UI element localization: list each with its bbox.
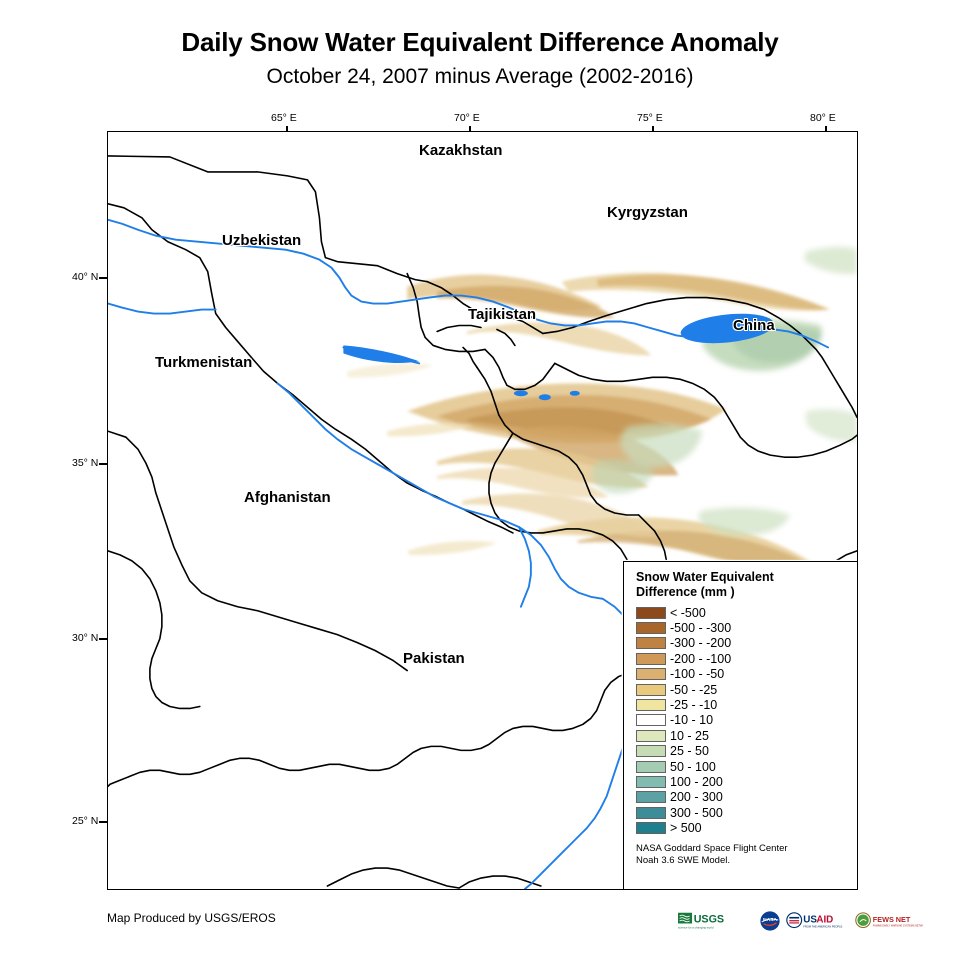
- legend-label: 50 - 100: [670, 760, 716, 774]
- legend-swatch: [636, 714, 666, 726]
- axis-label-lon-65: 65° E: [271, 112, 297, 124]
- axis-label-lon-70: 70° E: [454, 112, 480, 124]
- legend-swatch: [636, 699, 666, 711]
- legend-label: -300 - -200: [670, 636, 731, 650]
- svg-text:FAMINE EARLY WARNING SYSTEMS N: FAMINE EARLY WARNING SYSTEMS NETWORK: [873, 925, 923, 928]
- page-title: Daily Snow Water Equivalent Difference A…: [0, 26, 960, 58]
- legend-entry: -10 - 10: [636, 713, 847, 728]
- country-label-china: China: [733, 317, 775, 334]
- legend-swatch: [636, 791, 666, 803]
- legend-label: -500 - -300: [670, 621, 731, 635]
- axis-label-lat-25: 25° N: [72, 815, 98, 827]
- svg-text:AID: AID: [816, 915, 833, 926]
- country-label-tajikistan: Tajikistan: [468, 306, 536, 323]
- title-block: Daily Snow Water Equivalent Difference A…: [0, 26, 960, 92]
- legend-label: -25 - -10: [670, 698, 717, 712]
- legend-swatch: [636, 637, 666, 649]
- axis-label-lon-75: 75° E: [637, 112, 663, 124]
- map-credit: Map Produced by USGS/EROS: [107, 911, 276, 925]
- legend-swatch: [636, 668, 666, 680]
- legend-entry: 200 - 300: [636, 790, 847, 805]
- legend-entry-list: < -500-500 - -300-300 - -200-200 - -100-…: [636, 605, 847, 836]
- country-label-afghanistan: Afghanistan: [244, 489, 331, 506]
- legend-swatch: [636, 730, 666, 742]
- legend-entry: -25 - -10: [636, 697, 847, 712]
- svg-text:science for a changing world: science for a changing world: [678, 925, 714, 929]
- lake-small-3: [570, 391, 580, 396]
- svg-text:FEWS NET: FEWS NET: [873, 915, 911, 924]
- country-label-turkmenistan: Turkmenistan: [155, 354, 252, 371]
- legend-entry: -200 - -100: [636, 651, 847, 666]
- legend-swatch: [636, 653, 666, 665]
- lake-small-2: [539, 394, 551, 400]
- legend-entry: 10 - 25: [636, 728, 847, 743]
- country-label-kyrgyzstan: Kyrgyzstan: [607, 204, 688, 221]
- legend-entry: 25 - 50: [636, 744, 847, 759]
- svg-text:FROM THE AMERICAN PEOPLE: FROM THE AMERICAN PEOPLE: [803, 925, 842, 929]
- legend-swatch: [636, 776, 666, 788]
- legend-swatch: [636, 807, 666, 819]
- axis-label-lat-30: 30° N: [72, 632, 98, 644]
- legend-label: 300 - 500: [670, 806, 723, 820]
- legend-label: 200 - 300: [670, 790, 723, 804]
- country-label-pakistan: Pakistan: [403, 650, 465, 667]
- usgs-logo[interactable]: USGS science for a changing world: [678, 910, 754, 932]
- axis-label-lat-40: 40° N: [72, 271, 98, 283]
- nasa-logo[interactable]: NASA: [759, 910, 781, 932]
- page-subtitle: October 24, 2007 minus Average (2002-201…: [0, 62, 960, 92]
- legend-entry: 300 - 500: [636, 805, 847, 820]
- legend-entry: < -500: [636, 605, 847, 620]
- country-label-kazakhstan: Kazakhstan: [419, 142, 502, 159]
- svg-text:USGS: USGS: [694, 914, 724, 926]
- axis-label-lon-80: 80° E: [810, 112, 836, 124]
- legend-label: -10 - 10: [670, 713, 713, 727]
- legend-swatch: [636, 761, 666, 773]
- legend-label: -200 - -100: [670, 652, 731, 666]
- legend-entry: -500 - -300: [636, 620, 847, 635]
- legend-swatch: [636, 607, 666, 619]
- legend-entry: 100 - 200: [636, 774, 847, 789]
- lake-small-1: [514, 390, 528, 396]
- legend-swatch: [636, 684, 666, 696]
- svg-text:NASA: NASA: [763, 917, 777, 923]
- legend-swatch: [636, 622, 666, 634]
- legend-source-note: NASA Goddard Space Flight Center Noah 3.…: [636, 843, 847, 867]
- legend-entry: -300 - -200: [636, 636, 847, 651]
- logo-strip: USGS science for a changing world NASA U…: [678, 908, 923, 934]
- legend-entry: > 500: [636, 820, 847, 835]
- legend-entry: -50 - -25: [636, 682, 847, 697]
- legend-swatch: [636, 822, 666, 834]
- legend-label: 100 - 200: [670, 775, 723, 789]
- legend-swatch: [636, 745, 666, 757]
- legend-title: Snow Water Equivalent Difference (mm ): [636, 570, 847, 600]
- legend-label: 25 - 50: [670, 744, 709, 758]
- legend-entry: 50 - 100: [636, 759, 847, 774]
- map-legend: Snow Water Equivalent Difference (mm ) <…: [623, 561, 858, 890]
- legend-label: < -500: [670, 606, 706, 620]
- legend-entry: -100 - -50: [636, 667, 847, 682]
- fews-net-logo[interactable]: FEWS NET FAMINE EARLY WARNING SYSTEMS NE…: [855, 910, 923, 932]
- legend-label: -100 - -50: [670, 667, 724, 681]
- legend-label: -50 - -25: [670, 683, 717, 697]
- legend-label: 10 - 25: [670, 729, 709, 743]
- axis-label-lat-35: 35° N: [72, 457, 98, 469]
- usaid-logo[interactable]: US AID FROM THE AMERICAN PEOPLE: [786, 910, 850, 932]
- country-label-uzbekistan: Uzbekistan: [222, 232, 301, 249]
- legend-label: > 500: [670, 821, 702, 835]
- svg-text:US: US: [803, 915, 817, 926]
